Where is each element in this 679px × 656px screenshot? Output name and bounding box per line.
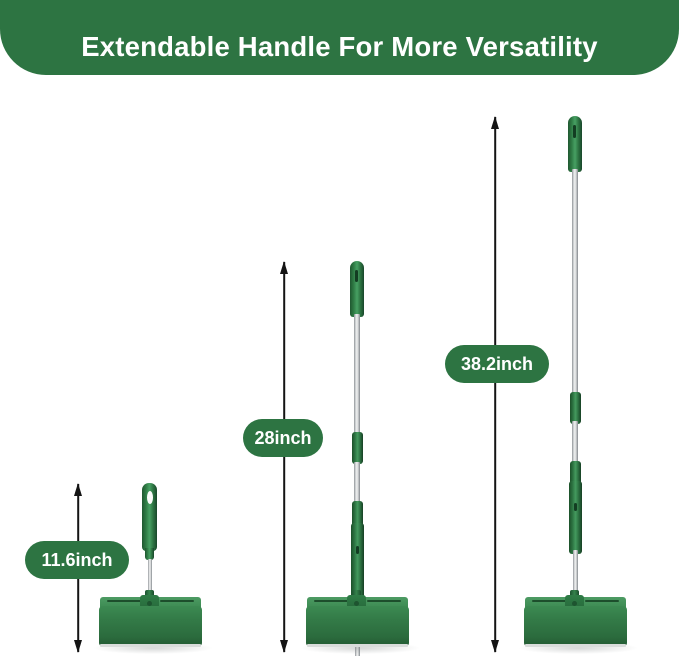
mop-head-slit-left <box>532 600 566 602</box>
mop-head-slit-right <box>367 600 401 602</box>
mop-small <box>96 482 208 654</box>
mop-head-body-large <box>524 606 627 646</box>
grip-slot-large <box>573 125 576 138</box>
mop-medium <box>303 258 415 654</box>
arrow-shaft <box>283 262 285 652</box>
mop-head-base-medium <box>307 644 408 647</box>
mop-head-base-large <box>525 644 626 647</box>
arrow-head-down-icon <box>74 640 82 653</box>
mop-collar-lower-large <box>569 481 582 554</box>
mop-large <box>521 113 633 654</box>
arrow-head-up-icon <box>74 483 82 496</box>
mop-head-slit-right <box>585 600 619 602</box>
product-infographic: Extendable Handle For More Versatility 1… <box>0 0 679 656</box>
header-banner: Extendable Handle For More Versatility <box>0 0 679 75</box>
collar-slot-large <box>574 503 577 511</box>
grip-hang-hole <box>147 491 153 504</box>
mop-shaft-mid-medium <box>354 462 360 506</box>
mop-head-body-small <box>99 606 202 646</box>
dimension-arrow-medium <box>277 262 291 652</box>
arrow-shaft <box>494 117 496 652</box>
grip-slot-medium <box>355 270 358 282</box>
mop-shaft-small <box>148 559 152 593</box>
arrow-head-down-icon <box>280 640 288 653</box>
mop-shaft-upper-large <box>572 169 578 396</box>
mop-collar-upper-large <box>570 392 581 424</box>
mop-collar-upper-medium <box>352 432 363 464</box>
mop-head-slit-left <box>314 600 348 602</box>
mop-head-base-small <box>100 644 201 647</box>
mop-head-slit-left <box>107 600 141 602</box>
arrow-head-up-icon <box>280 261 288 274</box>
mop-collar-lower-medium <box>351 523 364 599</box>
mop-head-slit-right <box>160 600 194 602</box>
mop-shaft-upper-medium <box>354 314 360 436</box>
dimension-arrow-large <box>488 117 502 652</box>
mop-head-body-medium <box>306 606 409 646</box>
page-title: Extendable Handle For More Versatility <box>81 31 598 63</box>
arrow-head-up-icon <box>491 116 499 129</box>
collar-slot-medium <box>356 546 359 554</box>
mop-shaft-mid-large <box>572 421 578 465</box>
arrow-head-down-icon <box>491 640 499 653</box>
